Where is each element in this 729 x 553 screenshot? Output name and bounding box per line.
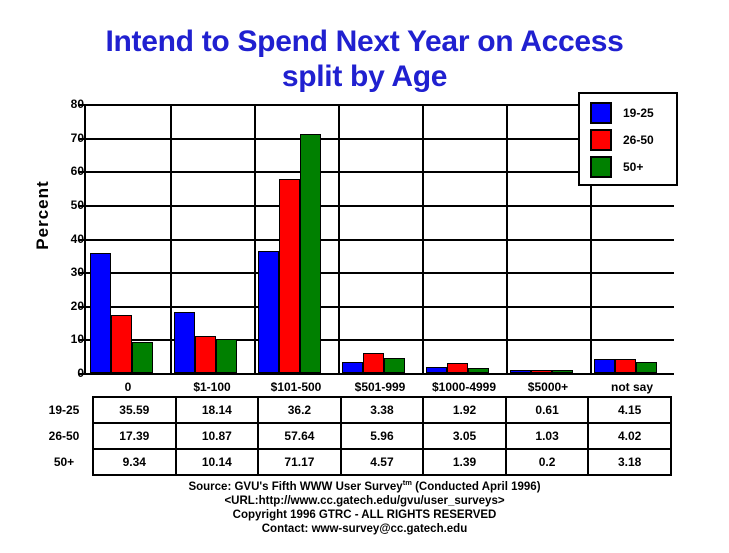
table-cell: 10.14 — [176, 449, 259, 475]
bar — [279, 179, 300, 373]
table-cell: 18.14 — [176, 397, 259, 423]
table-cell: 36.2 — [258, 397, 341, 423]
footer-survey-date: (Conducted April 1996) — [412, 481, 541, 493]
bar — [342, 362, 363, 373]
legend-swatch-icon — [590, 156, 612, 178]
x-tick-label: $1-100 — [170, 380, 254, 394]
table-cell: 3.05 — [423, 423, 506, 449]
x-tick-label: not say — [590, 380, 674, 394]
legend: 19-2526-5050+ — [578, 92, 678, 186]
bar-group: $1-100 — [170, 104, 254, 373]
legend-item[interactable]: 19-25 — [590, 101, 654, 125]
footer-source-text: Source: GVU's Fifth WWW User Survey — [188, 481, 402, 493]
bar — [132, 342, 153, 373]
footer-contact-line: Contact: www-survey@cc.gatech.edu — [0, 522, 729, 536]
x-tick-label: $101-500 — [254, 380, 338, 394]
legend-item[interactable]: 50+ — [590, 155, 643, 179]
bar — [615, 359, 636, 373]
bar — [111, 315, 132, 373]
table-row-header: 19-25 — [36, 397, 93, 423]
bar — [300, 134, 321, 373]
table-cell: 5.96 — [341, 423, 424, 449]
table-row-header: 26-50 — [36, 423, 93, 449]
chart-page: Intend to Spend Next Year on Access spli… — [0, 0, 729, 553]
table-cell: 57.64 — [258, 423, 341, 449]
page-title: Intend to Spend Next Year on Access spli… — [0, 24, 729, 94]
table-cell: 9.34 — [93, 449, 176, 475]
table-cell: 4.02 — [588, 423, 671, 449]
table-cell: 0.2 — [506, 449, 589, 475]
bar — [384, 358, 405, 373]
table-cell: 35.59 — [93, 397, 176, 423]
footer-source-line: Source: GVU's Fifth WWW User Surveytm (C… — [0, 476, 729, 494]
bar — [195, 336, 216, 373]
legend-label: 50+ — [623, 160, 643, 174]
legend-label: 19-25 — [623, 106, 654, 120]
table-row: 50+9.3410.1471.174.571.390.23.18 — [36, 449, 671, 475]
footer-url-line: <URL:http://www.cc.gatech.edu/gvu/user_s… — [0, 494, 729, 508]
table-cell: 1.03 — [506, 423, 589, 449]
table-row: 19-2535.5918.1436.23.381.920.614.15 — [36, 397, 671, 423]
bar-group: $101-500 — [254, 104, 338, 373]
legend-label: 26-50 — [623, 133, 654, 147]
table-cell: 1.92 — [423, 397, 506, 423]
table-cell: 4.57 — [341, 449, 424, 475]
legend-swatch-icon — [590, 102, 612, 124]
data-table: 19-2535.5918.1436.23.381.920.614.1526-50… — [36, 396, 672, 476]
bar-group: $501-999 — [338, 104, 422, 373]
table-cell: 3.38 — [341, 397, 424, 423]
footer-copyright-line: Copyright 1996 GTRC - ALL RIGHTS RESERVE… — [0, 508, 729, 522]
x-tick-label: 0 — [86, 380, 170, 394]
bar — [90, 253, 111, 373]
legend-swatch-icon — [590, 129, 612, 151]
table-cell: 0.61 — [506, 397, 589, 423]
bar — [258, 251, 279, 373]
bar — [426, 367, 447, 373]
table-cell: 3.18 — [588, 449, 671, 475]
bar-group: 0 — [86, 104, 170, 373]
bar — [552, 370, 573, 373]
x-tick-label: $1000-4999 — [422, 380, 506, 394]
bar-group: $1000-4999 — [422, 104, 506, 373]
bar — [636, 362, 657, 373]
bar — [174, 312, 195, 373]
table-cell: 17.39 — [93, 423, 176, 449]
table-cell: 4.15 — [588, 397, 671, 423]
x-tick-label: $5000+ — [506, 380, 590, 394]
bar — [363, 353, 384, 373]
title-line-2: split by Age — [0, 59, 729, 94]
table-row-header: 50+ — [36, 449, 93, 475]
bar — [594, 359, 615, 373]
bar — [216, 339, 237, 373]
table-cell: 1.39 — [423, 449, 506, 475]
bar — [468, 368, 489, 373]
table-cell: 71.17 — [258, 449, 341, 475]
bar — [447, 363, 468, 373]
table-cell: 10.87 — [176, 423, 259, 449]
legend-item[interactable]: 26-50 — [590, 128, 654, 152]
title-line-1: Intend to Spend Next Year on Access — [0, 24, 729, 59]
footer-tm-superscript: tm — [403, 478, 412, 487]
table-row: 26-5017.3910.8757.645.963.051.034.02 — [36, 423, 671, 449]
bar — [510, 370, 531, 373]
footer: Source: GVU's Fifth WWW User Surveytm (C… — [0, 476, 729, 537]
bar — [531, 370, 552, 373]
x-tick-label: $501-999 — [338, 380, 422, 394]
